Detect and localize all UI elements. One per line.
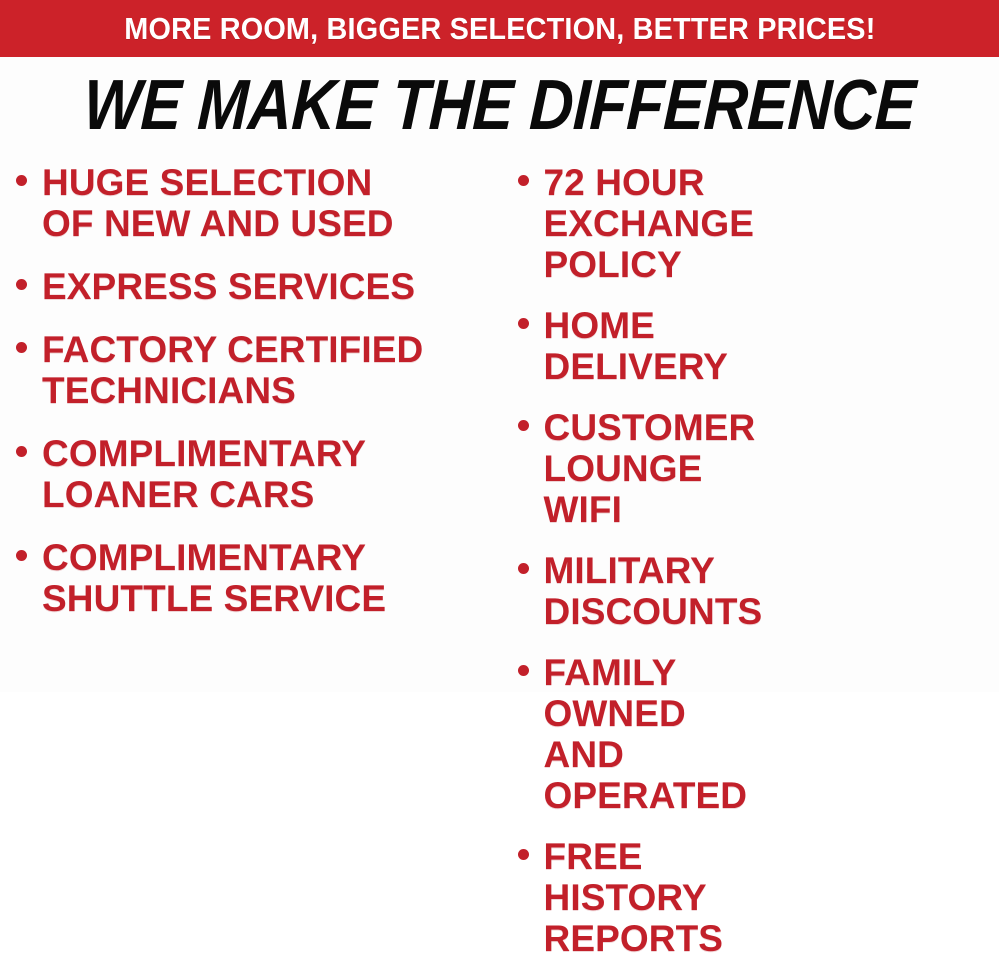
bullet-dot-icon <box>518 420 529 431</box>
promo-banner-text: MORE ROOM, BIGGER SELECTION, BETTER PRIC… <box>124 13 875 44</box>
list-item: MILITARY DISCOUNTS <box>518 550 763 632</box>
list-item: CUSTOMER LOUNGE WIFI <box>518 407 763 530</box>
list-item: HOME DELIVERY <box>518 305 763 387</box>
bullet-dot-icon <box>518 665 529 676</box>
headline-container: WE MAKE THE DIFFERENCE <box>0 62 999 148</box>
list-item: FAMILY OWNED AND OPERATED <box>518 652 763 816</box>
list-item-label: HOME DELIVERY <box>544 305 763 387</box>
features-column-right: 72 HOUR EXCHANGE POLICY HOME DELIVERY CU… <box>0 158 762 979</box>
advertisement-banner: MORE ROOM, BIGGER SELECTION, BETTER PRIC… <box>0 0 999 692</box>
features-columns: HUGE SELECTION OF NEW AND USED EXPRESS S… <box>0 158 999 692</box>
bullet-dot-icon <box>518 849 529 860</box>
list-item-label: MILITARY DISCOUNTS <box>544 550 763 632</box>
page-title: WE MAKE THE DIFFERENCE <box>82 70 917 141</box>
list-item-label: 72 HOUR EXCHANGE POLICY <box>544 162 763 285</box>
promo-banner: MORE ROOM, BIGGER SELECTION, BETTER PRIC… <box>0 0 999 57</box>
list-item: 72 HOUR EXCHANGE POLICY <box>518 162 763 285</box>
bullet-dot-icon <box>518 563 529 574</box>
list-item-label: CUSTOMER LOUNGE WIFI <box>544 407 763 530</box>
list-item-label: FREE HISTORY REPORTS <box>544 836 763 959</box>
bullet-dot-icon <box>518 175 529 186</box>
list-item-label: FAMILY OWNED AND OPERATED <box>544 652 763 816</box>
list-item: FREE HISTORY REPORTS <box>518 836 763 959</box>
bullet-dot-icon <box>518 318 529 329</box>
